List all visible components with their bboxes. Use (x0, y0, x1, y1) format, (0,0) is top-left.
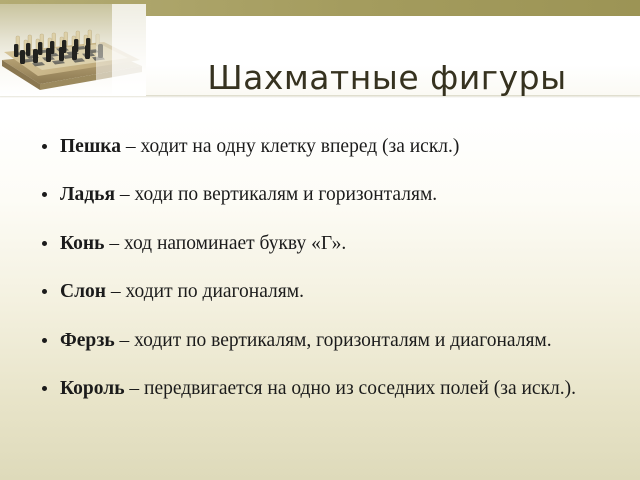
page-title: Шахматные фигуры (152, 58, 622, 98)
piece-description: ходит по вертикалям, горизонталям и диаг… (134, 330, 552, 351)
slide-canvas: Шахматные фигуры Пешка – ходит на одну к… (0, 0, 640, 480)
piece-dash: – (104, 233, 124, 254)
piece-name: Ладья (60, 184, 115, 205)
piece-description: ход напоминает букву «Г». (124, 233, 346, 254)
piece-name: Слон (60, 281, 106, 302)
list-item: Слон – ходит по диагоналям. (38, 277, 613, 306)
piece-dash: – (125, 378, 145, 399)
piece-name: Ферзь (60, 330, 115, 351)
piece-name: Король (60, 378, 125, 399)
bullet-icon (42, 289, 47, 294)
piece-description: ходит по диагоналям. (126, 281, 304, 302)
chessboard-illustration (0, 4, 146, 96)
chess-pieces-list: Пешка – ходит на одну клетку вперед (за … (38, 112, 613, 403)
list-item: Конь – ход напоминает букву «Г». (38, 229, 613, 258)
piece-description: ходит на одну клетку вперед (за искл.) (140, 136, 459, 157)
piece-description: передвигается на одно из соседних полей … (144, 378, 576, 399)
bullet-icon (42, 192, 47, 197)
piece-name: Конь (60, 233, 104, 254)
bullet-icon (42, 386, 47, 391)
list-item: Пешка – ходит на одну клетку вперед (за … (38, 132, 613, 161)
list-item: Король – передвигается на одно из соседн… (38, 374, 613, 403)
piece-description: ходи по вертикалям и горизонталям. (135, 184, 438, 205)
chessboard-photo (0, 4, 146, 96)
bullet-icon (42, 241, 47, 246)
piece-dash: – (115, 184, 135, 205)
piece-name: Пешка (60, 136, 121, 157)
bullet-icon (42, 338, 47, 343)
piece-dash: – (115, 330, 135, 351)
piece-dash: – (106, 281, 126, 302)
list-item: Ладья – ходи по вертикалям и горизонталя… (38, 180, 613, 209)
list-item: Ферзь – ходит по вертикалям, горизонталя… (38, 326, 613, 355)
piece-dash: – (121, 136, 141, 157)
bullet-icon (42, 144, 47, 149)
